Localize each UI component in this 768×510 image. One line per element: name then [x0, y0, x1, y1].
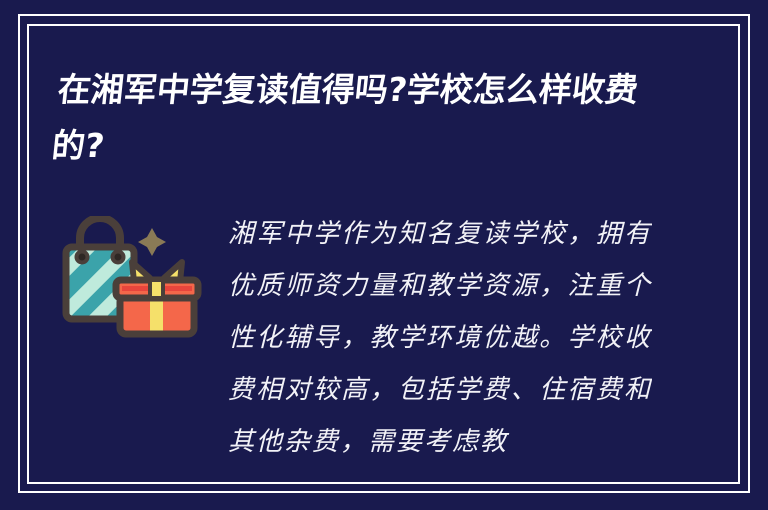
article-title: 在湘军中学复读值得吗?学校怎么样收费的?	[49, 62, 661, 174]
article-card: 在湘军中学复读值得吗?学校怎么样收费的?	[0, 0, 768, 510]
shopping-bag-and-gift-illustration	[58, 216, 203, 348]
article-body: 湘军中学作为知名复读学校，拥有优质师资力量和教学资源，注重个性化辅导，教学环境优…	[228, 208, 652, 470]
sparkle-icon	[138, 228, 166, 256]
